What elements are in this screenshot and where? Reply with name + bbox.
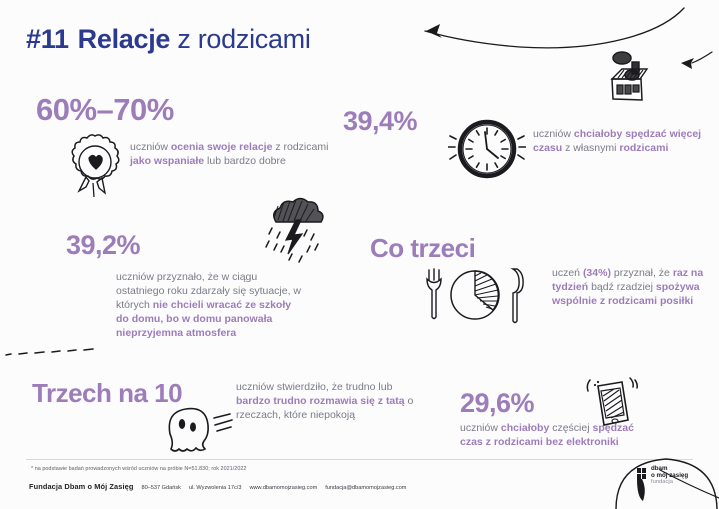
stat-description: uczniów chciałoby spędzać więcej czasu z… xyxy=(533,127,713,155)
stat-value: 29,6% xyxy=(460,388,534,419)
storm-cloud-icon xyxy=(262,196,324,268)
logo-wordmark: dbam o mój zasięg fundacja xyxy=(651,466,688,486)
stat-block-meals: Co trzeci uczeń (34%) przyznał, że raz n… xyxy=(370,233,475,264)
logo-line-3: fundacja xyxy=(651,479,688,486)
ghost-icon xyxy=(160,404,236,462)
stat-block-no-electronics: 29,6% uczniów chciałoby częściej spędzać… xyxy=(460,388,534,419)
stat-block-relations: 60%–70% uczniów ocenia swoje relacje z r… xyxy=(36,92,174,128)
title-main: Relacje xyxy=(78,24,170,54)
footer-street: ul. Wyzwolenia 17c/3 xyxy=(189,485,242,491)
smartphone-icon xyxy=(578,376,640,432)
stat-value: 39,4% xyxy=(343,106,417,137)
clock-icon xyxy=(448,113,526,185)
footer-website[interactable]: www.dbamomojzasieg.com xyxy=(249,485,317,491)
title-sub: z rodzicami xyxy=(177,24,310,54)
stat-block-bad-atmosphere: 39,2% uczniów przyznało, że w ciągu osta… xyxy=(66,230,140,261)
stat-description: uczniów przyznało, że w ciągu ostatniego… xyxy=(116,270,306,340)
footer-organization: Fundacja Dbam o Mój Zasięg xyxy=(29,482,133,491)
title-number: #11 xyxy=(26,24,69,54)
infographic-page: #11Relacje z rodzicami 60%–70% uczniów o… xyxy=(0,0,719,509)
stat-value: 60%–70% xyxy=(36,92,174,128)
logo-line-2: o mój zasięg xyxy=(651,473,688,480)
footer-postcode-city: 80–537 Gdańsk xyxy=(141,485,181,491)
signal-bars-icon xyxy=(637,468,646,501)
stat-description: uczniów ocenia swoje relacje z rodzicami… xyxy=(130,140,330,168)
stat-description: uczeń (34%) przyznał, że raz na tydzień … xyxy=(552,266,719,308)
house-icon xyxy=(598,36,668,102)
stat-value: 39,2% xyxy=(66,230,140,261)
plate-cutlery-pie-icon xyxy=(421,266,527,324)
stat-block-more-time: 39,4% uczniów chciałoby spędzać więcej c… xyxy=(343,106,417,137)
footer-contact: Fundacja Dbam o Mój Zasięg80–537 Gdańsku… xyxy=(29,482,406,491)
rosette-heart-icon xyxy=(64,131,126,199)
stat-description: uczniów stwierdziło, że trudno lub bardz… xyxy=(236,380,416,422)
page-title: #11Relacje z rodzicami xyxy=(26,24,311,55)
footnote-methodology: * na podstawie badań prowadzonych wśród … xyxy=(31,466,246,472)
footer-email[interactable]: fundacja@dbamomojzasieg.com xyxy=(325,485,406,491)
footer-divider xyxy=(26,459,693,460)
stat-value: Co trzeci xyxy=(370,233,475,264)
